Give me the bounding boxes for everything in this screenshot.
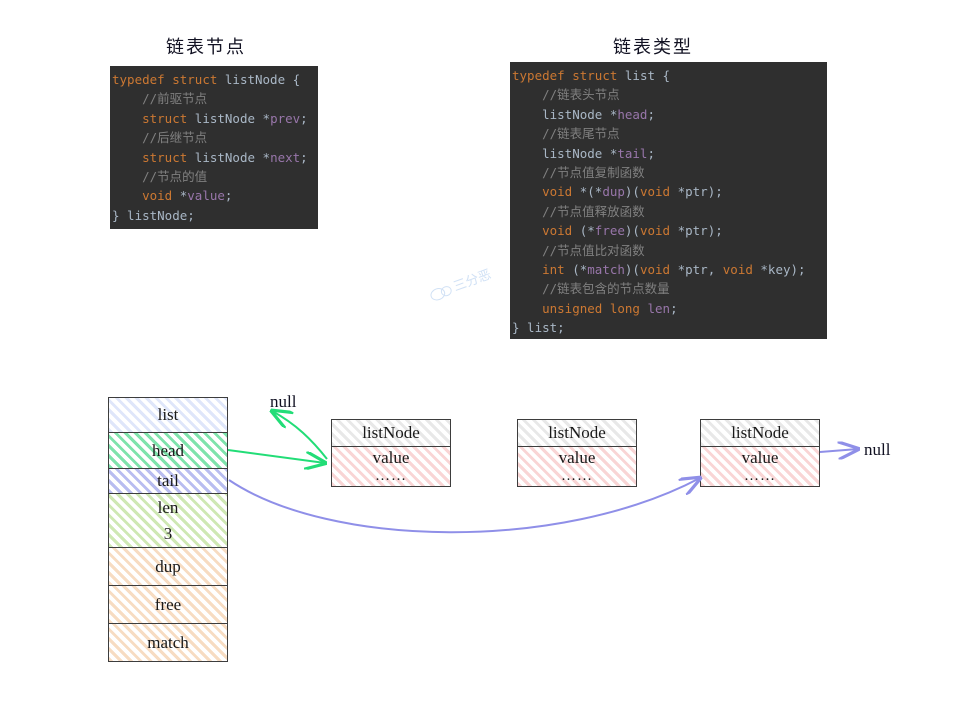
- code-token: *ptr);: [670, 184, 723, 199]
- code-token: typedef: [512, 68, 565, 83]
- code-line: //前驱节点: [110, 89, 318, 108]
- code-token: tail: [617, 146, 647, 161]
- code-token: ;: [300, 111, 308, 126]
- code-token: //链表尾节点: [512, 126, 620, 141]
- code-token: *: [172, 188, 187, 203]
- code-token: *ptr);: [670, 223, 723, 238]
- code-token: struct: [572, 68, 617, 83]
- code-token: void: [542, 223, 572, 238]
- code-token: dup: [602, 184, 625, 199]
- code-token: ;: [670, 301, 678, 316]
- code-token: free: [595, 223, 625, 238]
- code-token: [602, 301, 610, 316]
- listnode-value-label: value: [742, 449, 779, 468]
- code-token: ;: [225, 188, 233, 203]
- struct-cell-label: head: [152, 441, 184, 461]
- code-token: [512, 184, 542, 199]
- listnode-box-1[interactable]: listNodevalue……: [331, 419, 451, 487]
- code-token: [640, 301, 648, 316]
- struct-cell-dup[interactable]: dup: [108, 547, 228, 586]
- code-line: //节点值比对函数: [510, 241, 827, 260]
- code-token: ;: [300, 150, 308, 165]
- code-token: struct: [172, 72, 217, 87]
- struct-cell-label: tail: [157, 471, 179, 491]
- code-line: int (*match)(void *ptr, void *key);: [510, 260, 827, 279]
- code-token: listNode *: [187, 111, 270, 126]
- code-line: listNode *head;: [510, 105, 827, 124]
- code-token: struct: [142, 150, 187, 165]
- struct-cell-label: free: [155, 595, 181, 615]
- code-line: //链表头节点: [510, 85, 827, 104]
- code-token: long: [610, 301, 640, 316]
- code-line: } list;: [510, 318, 827, 337]
- list-section-title: 链表类型: [613, 33, 693, 59]
- code-token: void: [640, 184, 670, 199]
- code-token: (*: [565, 262, 588, 277]
- code-line: //后继节点: [110, 128, 318, 147]
- code-token: value: [187, 188, 225, 203]
- struct-cell-label: dup: [155, 557, 181, 577]
- code-line: void *value;: [110, 186, 318, 205]
- code-token: [112, 150, 142, 165]
- null-label-head: null: [270, 392, 296, 412]
- code-token: //节点的值: [112, 169, 207, 184]
- code-token: //链表头节点: [512, 87, 620, 102]
- watermark: 三分恶: [427, 264, 494, 304]
- code-line: //节点值释放函数: [510, 202, 827, 221]
- struct-cell-label: len: [158, 498, 179, 518]
- listnode-header: listNode: [700, 419, 820, 447]
- code-token: [512, 301, 542, 316]
- arrow-node3-next-null: [820, 449, 858, 452]
- listnode-ellipsis: ……: [744, 468, 776, 485]
- code-token: next: [270, 150, 300, 165]
- code-token: ;: [647, 107, 655, 122]
- code-token: void: [142, 188, 172, 203]
- listnode-header: listNode: [517, 419, 637, 447]
- code-token: typedef: [112, 72, 165, 87]
- code-token: head: [617, 107, 647, 122]
- listnode-ellipsis: ……: [561, 468, 593, 485]
- code-token: listNode *: [512, 107, 617, 122]
- listnode-body: value……: [517, 446, 637, 487]
- code-token: } list;: [512, 320, 565, 335]
- code-token: listNode *: [512, 146, 617, 161]
- code-token: listNode *: [187, 150, 270, 165]
- listnode-value-label: value: [373, 449, 410, 468]
- code-line: //节点值复制函数: [510, 163, 827, 182]
- code-token: [512, 223, 542, 238]
- struct-cell-label: match: [147, 633, 189, 653]
- code-token: //前驱节点: [112, 91, 207, 106]
- listnode-body: value……: [700, 446, 820, 487]
- node-section-title: 链表节点: [166, 33, 246, 59]
- struct-cell-list[interactable]: list: [108, 397, 228, 433]
- code-line: listNode *tail;: [510, 144, 827, 163]
- struct-cell-match[interactable]: match: [108, 623, 228, 662]
- code-line: //链表包含的节点数量: [510, 279, 827, 298]
- listnode-ellipsis: ……: [375, 468, 407, 485]
- code-line: typedef struct listNode {: [110, 70, 318, 89]
- struct-cell-tail[interactable]: tail: [108, 468, 228, 494]
- listnode-body: value……: [331, 446, 451, 487]
- code-token: listNode {: [217, 72, 300, 87]
- code-token: *ptr,: [670, 262, 723, 277]
- code-token: //链表包含的节点数量: [512, 281, 670, 296]
- code-token: (*: [572, 223, 595, 238]
- code-token: )(: [625, 223, 640, 238]
- listnode-header-label: listNode: [731, 424, 789, 443]
- struct-cell-label: list: [158, 405, 179, 425]
- code-token: )(: [625, 184, 640, 199]
- code-token: ;: [647, 146, 655, 161]
- code-token: struct: [142, 111, 187, 126]
- listnode-box-2[interactable]: listNodevalue……: [517, 419, 637, 487]
- code-line: void *(*dup)(void *ptr);: [510, 182, 827, 201]
- code-line: struct listNode *prev;: [110, 109, 318, 128]
- code-token: *(*: [572, 184, 602, 199]
- listnode-header-label: listNode: [362, 424, 420, 443]
- code-token: //节点值复制函数: [512, 165, 645, 180]
- code-token: void: [640, 223, 670, 238]
- code-token: [512, 262, 542, 277]
- arrow-head-to-node1: [228, 450, 325, 463]
- code-token: unsigned: [542, 301, 602, 316]
- code-line: } listNode;: [110, 206, 318, 225]
- struct-cell-head[interactable]: head: [108, 432, 228, 469]
- code-token: match: [587, 262, 625, 277]
- code-line: //链表尾节点: [510, 124, 827, 143]
- listnode-header-label: listNode: [548, 424, 606, 443]
- code-token: void: [640, 262, 670, 277]
- code-token: //后继节点: [112, 130, 207, 145]
- listnode-box-3[interactable]: listNodevalue……: [700, 419, 820, 487]
- code-token: //节点值比对函数: [512, 243, 645, 258]
- struct-cell-free[interactable]: free: [108, 585, 228, 624]
- code-token: [112, 188, 142, 203]
- code-line: unsigned long len;: [510, 299, 827, 318]
- code-block-listnode: typedef struct listNode { //前驱节点 struct …: [110, 66, 318, 229]
- code-token: )(: [625, 262, 640, 277]
- code-token: void: [542, 184, 572, 199]
- null-label-tail: null: [864, 440, 890, 460]
- listnode-value-label: value: [559, 449, 596, 468]
- code-line: struct listNode *next;: [110, 148, 318, 167]
- code-token: len: [648, 301, 671, 316]
- code-line: void (*free)(void *ptr);: [510, 221, 827, 240]
- code-line: typedef struct list {: [510, 66, 827, 85]
- arrow-node1-prev-null: [272, 411, 327, 459]
- code-line: //节点的值: [110, 167, 318, 186]
- listnode-header: listNode: [331, 419, 451, 447]
- diagram-canvas: 链表节点 链表类型 typedef struct listNode { //前驱…: [0, 0, 964, 708]
- code-token: *key);: [753, 262, 806, 277]
- code-token: } listNode;: [112, 208, 195, 223]
- code-block-list: typedef struct list { //链表头节点 listNode *…: [510, 62, 827, 339]
- struct-cell-value: 3: [164, 524, 173, 544]
- code-token: list {: [617, 68, 670, 83]
- code-token: prev: [270, 111, 300, 126]
- watermark-text: 三分恶: [452, 267, 494, 294]
- code-token: void: [723, 262, 753, 277]
- code-token: [112, 111, 142, 126]
- code-token: int: [542, 262, 565, 277]
- struct-cell-len[interactable]: len3: [108, 493, 228, 548]
- code-token: //节点值释放函数: [512, 204, 645, 219]
